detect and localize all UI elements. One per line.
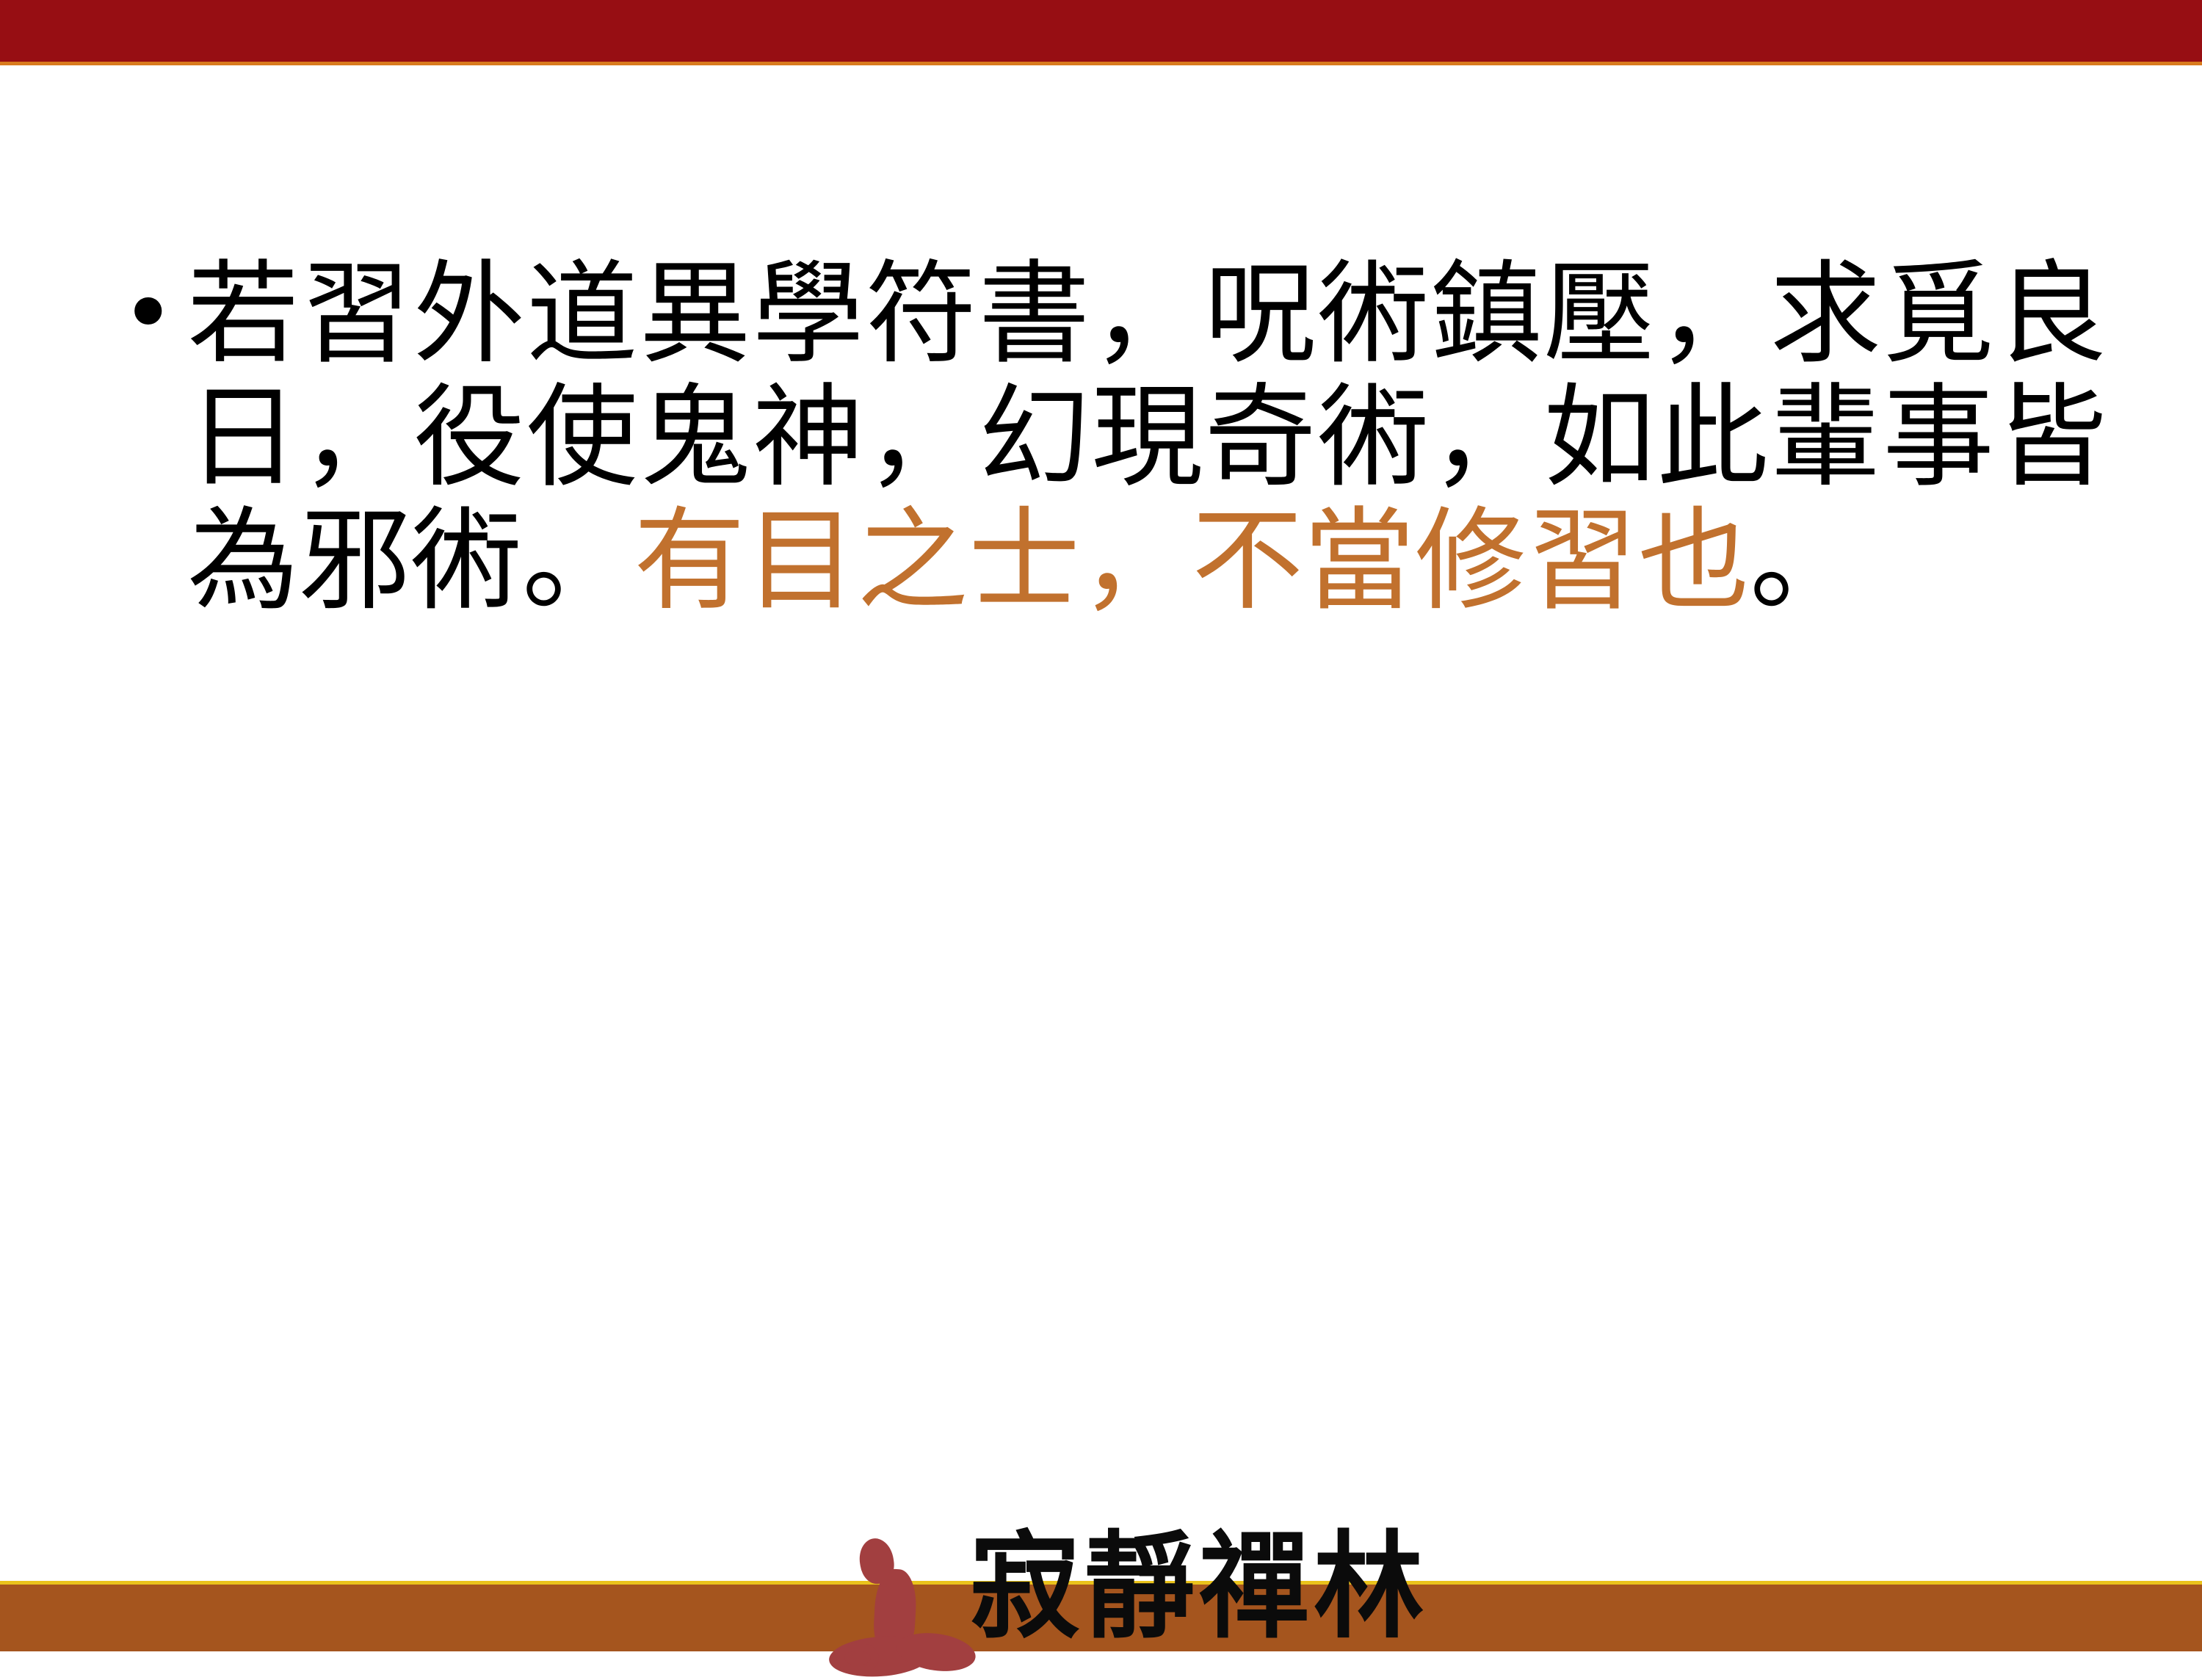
content-block: • 若習外道異學符書，呪術鎮壓，求覓良日，役使鬼神，幻現奇術，如此輩事皆為邪術。… [110,253,2107,623]
bullet-paragraph: 若習外道異學符書，呪術鎮壓，求覓良日，役使鬼神，幻現奇術，如此輩事皆為邪術。有目… [187,253,2107,623]
organization-logo: 寂靜禪林 [833,1516,1391,1651]
logo-wordmark: 寂靜禪林 [966,1525,1428,1651]
meditating-figure-icon [833,1527,966,1651]
top-decorative-band [0,0,2202,62]
figure-knee-shape [836,1643,879,1673]
bullet-list-item: • 若習外道異學符書，呪術鎮壓，求覓良日，役使鬼神，幻現奇術，如此輩事皆為邪術。… [110,253,2107,623]
bullet-marker: • [110,253,187,376]
paragraph-segment-highlight: 有目之士，不當修習也 [634,496,1750,626]
paragraph-segment-black-tail: 。 [1750,496,1861,626]
slide-body: • 若習外道異學符書，呪術鎮壓，求覓良日，役使鬼神，幻現奇術，如此輩事皆為邪術。… [0,65,2202,1581]
